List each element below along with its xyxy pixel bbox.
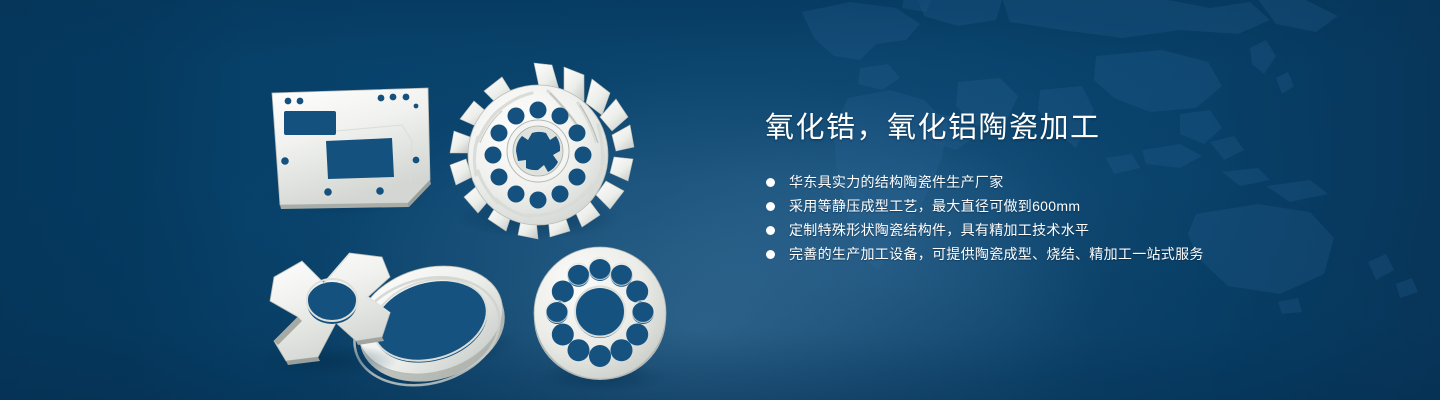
ceramic-plate-part (257, 88, 433, 215)
list-item: 定制特殊形状陶瓷结构件，具有精加工技术水平 (765, 218, 1385, 242)
ceramic-products-image (240, 45, 710, 385)
list-item-label: 华东具实力的结构陶瓷件生产厂家 (789, 174, 1004, 190)
banner-copy: 氧化锆，氧化铝陶瓷加工 华东具实力的结构陶瓷件生产厂家 采用等静压成型工艺，最大… (765, 108, 1385, 266)
ceramic-cross-part (254, 253, 398, 379)
bullet-dot-icon (766, 202, 775, 211)
feature-list: 华东具实力的结构陶瓷件生产厂家 采用等静压成型工艺，最大直径可做到600mm 定… (765, 170, 1385, 266)
bullet-dot-icon (766, 178, 775, 187)
page-title: 氧化锆，氧化铝陶瓷加工 (765, 108, 1385, 148)
list-item: 采用等静压成型工艺，最大直径可做到600mm (765, 194, 1385, 218)
bullet-dot-icon (766, 250, 775, 259)
bullet-dot-icon (766, 226, 775, 235)
hero-banner: 氧化锆，氧化铝陶瓷加工 华东具实力的结构陶瓷件生产厂家 采用等静压成型工艺，最大… (0, 0, 1440, 400)
list-item-label: 定制特殊形状陶瓷结构件，具有精加工技术水平 (789, 222, 1089, 238)
ceramic-impeller-part (450, 63, 634, 239)
list-item: 华东具实力的结构陶瓷件生产厂家 (765, 170, 1385, 194)
list-item-label: 采用等静压成型工艺，最大直径可做到600mm (789, 198, 1080, 214)
list-item-label: 完善的生产加工设备，可提供陶瓷成型、烧结、精加工一站式服务 (789, 246, 1204, 262)
ceramic-perforated-disc-part (534, 247, 668, 393)
list-item: 完善的生产加工设备，可提供陶瓷成型、烧结、精加工一站式服务 (765, 242, 1385, 266)
